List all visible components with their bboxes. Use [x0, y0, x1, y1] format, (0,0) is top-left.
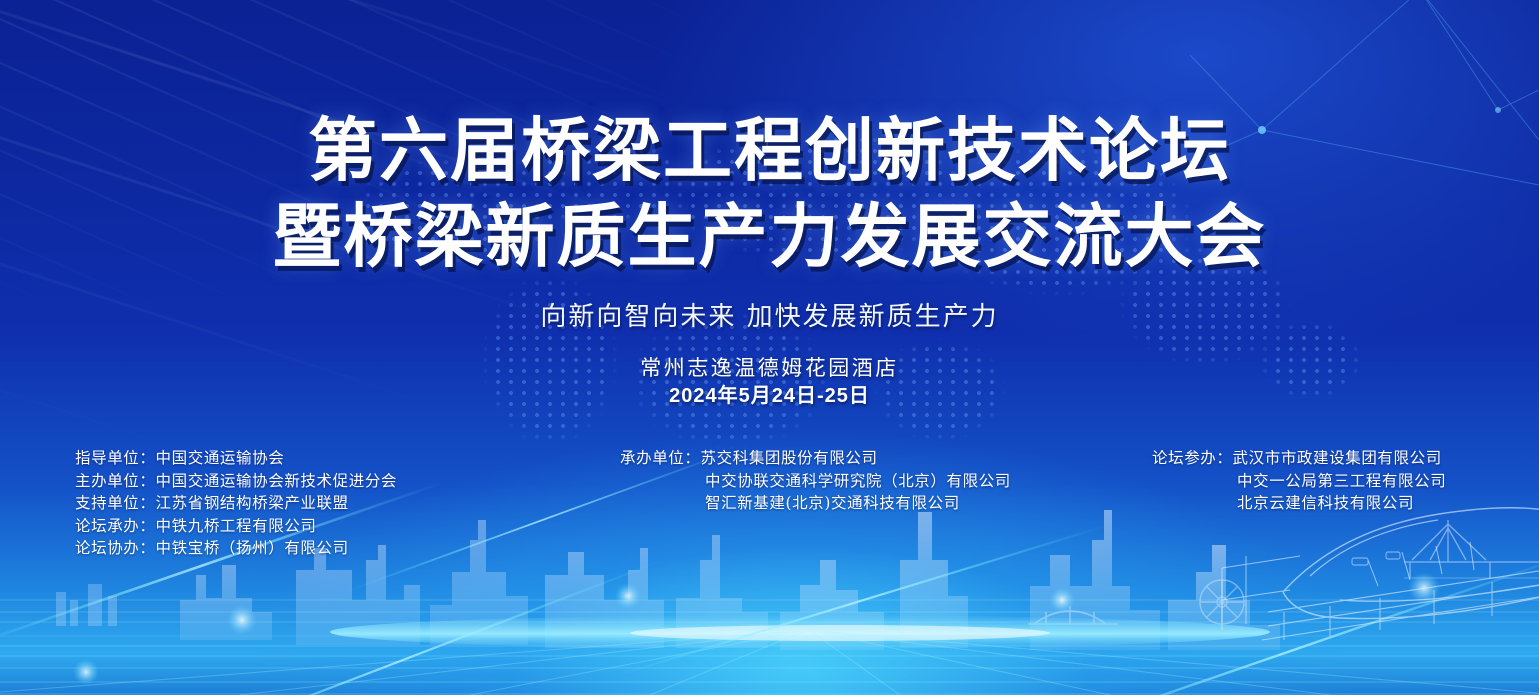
organizer-label: 论坛协办： [75, 537, 156, 560]
organizer-value: 苏交科集团股份有限公司 [701, 449, 878, 467]
organizer-value: 武汉市市政建设集团有限公司 [1233, 449, 1442, 467]
title-line-2: 暨桥梁新质生产力发展交流大会 [0, 194, 1539, 280]
organizer-row: 主办单位：中国交通运输协会新技术促进分会 [75, 470, 397, 493]
organizer-value: 中交协联交通科学研究院（北京）有限公司 [620, 470, 1011, 493]
organizer-row: 论坛参办：武汉市市政建设集团有限公司 [1152, 447, 1446, 470]
organizer-label: 指导单位： [75, 447, 156, 470]
organizer-row: 论坛承办：中铁九桥工程有限公司 [75, 515, 397, 538]
organizer-column-left: 指导单位：中国交通运输协会 主办单位：中国交通运输协会新技术促进分会 支持单位：… [75, 447, 397, 560]
organizer-row: 北京云建信科技有限公司 [1152, 492, 1446, 515]
organizer-value: 中铁九桥工程有限公司 [156, 517, 317, 535]
organizer-value: 智汇新基建(北京)交通科技有限公司 [620, 492, 960, 515]
organizer-value: 中铁宝桥（扬州）有限公司 [156, 539, 349, 557]
organizer-label: 论坛承办： [75, 515, 156, 538]
page-title: 第六届桥梁工程创新技术论坛 暨桥梁新质生产力发展交流大会 [0, 108, 1539, 280]
organizer-row: 承办单位：苏交科集团股份有限公司 [620, 447, 1011, 470]
venue-name: 常州志逸温德姆花园酒店 [0, 352, 1539, 382]
organizer-value: 江苏省钢结构桥梁产业联盟 [156, 494, 349, 512]
organizer-column-right: 论坛参办：武汉市市政建设集团有限公司 中交一公局第三工程有限公司 北京云建信科技… [1152, 447, 1446, 515]
organizer-row: 支持单位：江苏省钢结构桥梁产业联盟 [75, 492, 397, 515]
conference-banner: 第六届桥梁工程创新技术论坛 暨桥梁新质生产力发展交流大会 向新向智向未来 加快发… [0, 0, 1539, 695]
organizer-row: 中交一公局第三工程有限公司 [1152, 470, 1446, 493]
event-dates: 2024年5月24日-25日 [0, 379, 1539, 408]
banner-content: 第六届桥梁工程创新技术论坛 暨桥梁新质生产力发展交流大会 向新向智向未来 加快发… [0, 0, 1539, 695]
organizer-label: 支持单位： [75, 492, 156, 515]
organizer-value: 中国交通运输协会新技术促进分会 [156, 472, 398, 490]
organizer-row: 中交协联交通科学研究院（北京）有限公司 [620, 470, 1011, 493]
banner-subtitle: 向新向智向未来 加快发展新质生产力 [0, 296, 1539, 333]
title-line-1: 第六届桥梁工程创新技术论坛 [0, 108, 1539, 194]
organizer-row: 智汇新基建(北京)交通科技有限公司 [620, 492, 1011, 515]
organizer-label: 承办单位： [620, 447, 701, 470]
organizer-value: 中交一公局第三工程有限公司 [1152, 470, 1446, 493]
organizer-column-center: 承办单位：苏交科集团股份有限公司 中交协联交通科学研究院（北京）有限公司 智汇新… [620, 447, 1011, 515]
organizer-row: 指导单位：中国交通运输协会 [75, 447, 397, 470]
organizer-value: 北京云建信科技有限公司 [1152, 492, 1414, 515]
organizer-label: 主办单位： [75, 470, 156, 493]
organizer-row: 论坛协办：中铁宝桥（扬州）有限公司 [75, 537, 397, 560]
organizer-label: 论坛参办： [1152, 447, 1233, 470]
organizer-value: 中国交通运输协会 [156, 449, 285, 467]
